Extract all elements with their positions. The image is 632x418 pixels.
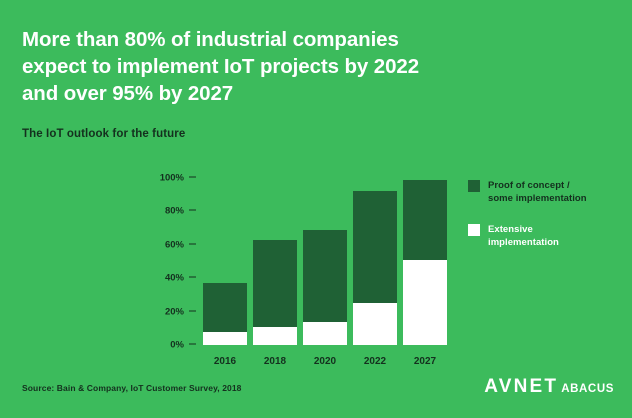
bar-segment-extensive-implementation (253, 327, 297, 345)
logo-avnet-text: AVNET (484, 377, 558, 396)
logo-abacus-text: ABACUS (561, 380, 614, 399)
x-axis-label-2016: 2016 (203, 356, 247, 367)
y-axis-tick-label: 0% (170, 340, 184, 351)
x-axis-label-2020: 2020 (303, 356, 347, 367)
y-axis-tick-label: 60% (165, 239, 184, 250)
bar-segment-proof-of-concept (303, 230, 347, 322)
y-axis-tick: 20% (141, 306, 196, 317)
bar-segment-proof-of-concept (253, 240, 297, 327)
legend-swatch-dark-green-icon (468, 180, 480, 192)
bar-group-2027 (403, 180, 447, 345)
legend-swatch-white-icon (468, 224, 480, 236)
bar-segment-extensive-implementation (403, 260, 447, 345)
bar-segment-proof-of-concept (353, 191, 397, 303)
bar-group-2018 (253, 240, 297, 345)
x-axis-label-2022: 2022 (353, 356, 397, 367)
y-axis-tick: 80% (141, 206, 196, 217)
legend-label-line-1: Proof of concept / (488, 180, 570, 191)
y-axis-tick-mark-icon (189, 243, 196, 244)
legend-item-proof-of-concept: Proof of concept / some implementation (468, 179, 618, 205)
legend-item-extensive-implementation: Extensive implementation (468, 223, 618, 249)
bar-segment-extensive-implementation (303, 322, 347, 345)
y-axis: 0%20%40%60%80%100% (140, 0, 196, 418)
y-axis-tick: 40% (141, 273, 196, 284)
bar-segment-extensive-implementation (203, 332, 247, 345)
y-axis-tick-label: 80% (165, 206, 184, 217)
bar-group-2020 (303, 230, 347, 345)
y-axis-tick-mark-icon (189, 277, 196, 278)
y-axis-tick-mark-icon (189, 344, 196, 345)
bar-group-2022 (353, 191, 397, 345)
y-axis-tick: 60% (141, 239, 196, 250)
y-axis-tick-label: 100% (160, 173, 184, 184)
legend-label-extensive-implementation: Extensive implementation (488, 223, 559, 249)
y-axis-tick-label: 20% (165, 306, 184, 317)
y-axis-tick-label: 40% (165, 273, 184, 284)
avnet-abacus-logo: AVNET ABACUS (484, 377, 614, 399)
y-axis-tick-mark-icon (189, 210, 196, 211)
legend-label-line-2: implementation (488, 237, 559, 248)
infographic-canvas: More than 80% of industrial companies ex… (0, 0, 632, 418)
y-axis-tick: 100% (141, 173, 196, 184)
x-axis-label-2018: 2018 (253, 356, 297, 367)
bars-area: 20162018202020222027 (196, 0, 486, 418)
bar-segment-proof-of-concept (203, 283, 247, 331)
y-axis-tick-mark-icon (189, 310, 196, 311)
x-axis-label-2027: 2027 (403, 356, 447, 367)
chart-legend: Proof of concept / some implementation E… (468, 179, 618, 267)
legend-label-proof-of-concept: Proof of concept / some implementation (488, 179, 587, 205)
bar-segment-extensive-implementation (353, 303, 397, 345)
y-axis-tick: 0% (141, 340, 196, 351)
source-note: Source: Bain & Company, IoT Customer Sur… (22, 383, 242, 393)
legend-label-line-2: some implementation (488, 193, 587, 204)
legend-label-line-1: Extensive (488, 224, 533, 235)
y-axis-tick-mark-icon (189, 177, 196, 178)
bar-group-2016 (203, 283, 247, 345)
bar-segment-proof-of-concept (403, 180, 447, 260)
